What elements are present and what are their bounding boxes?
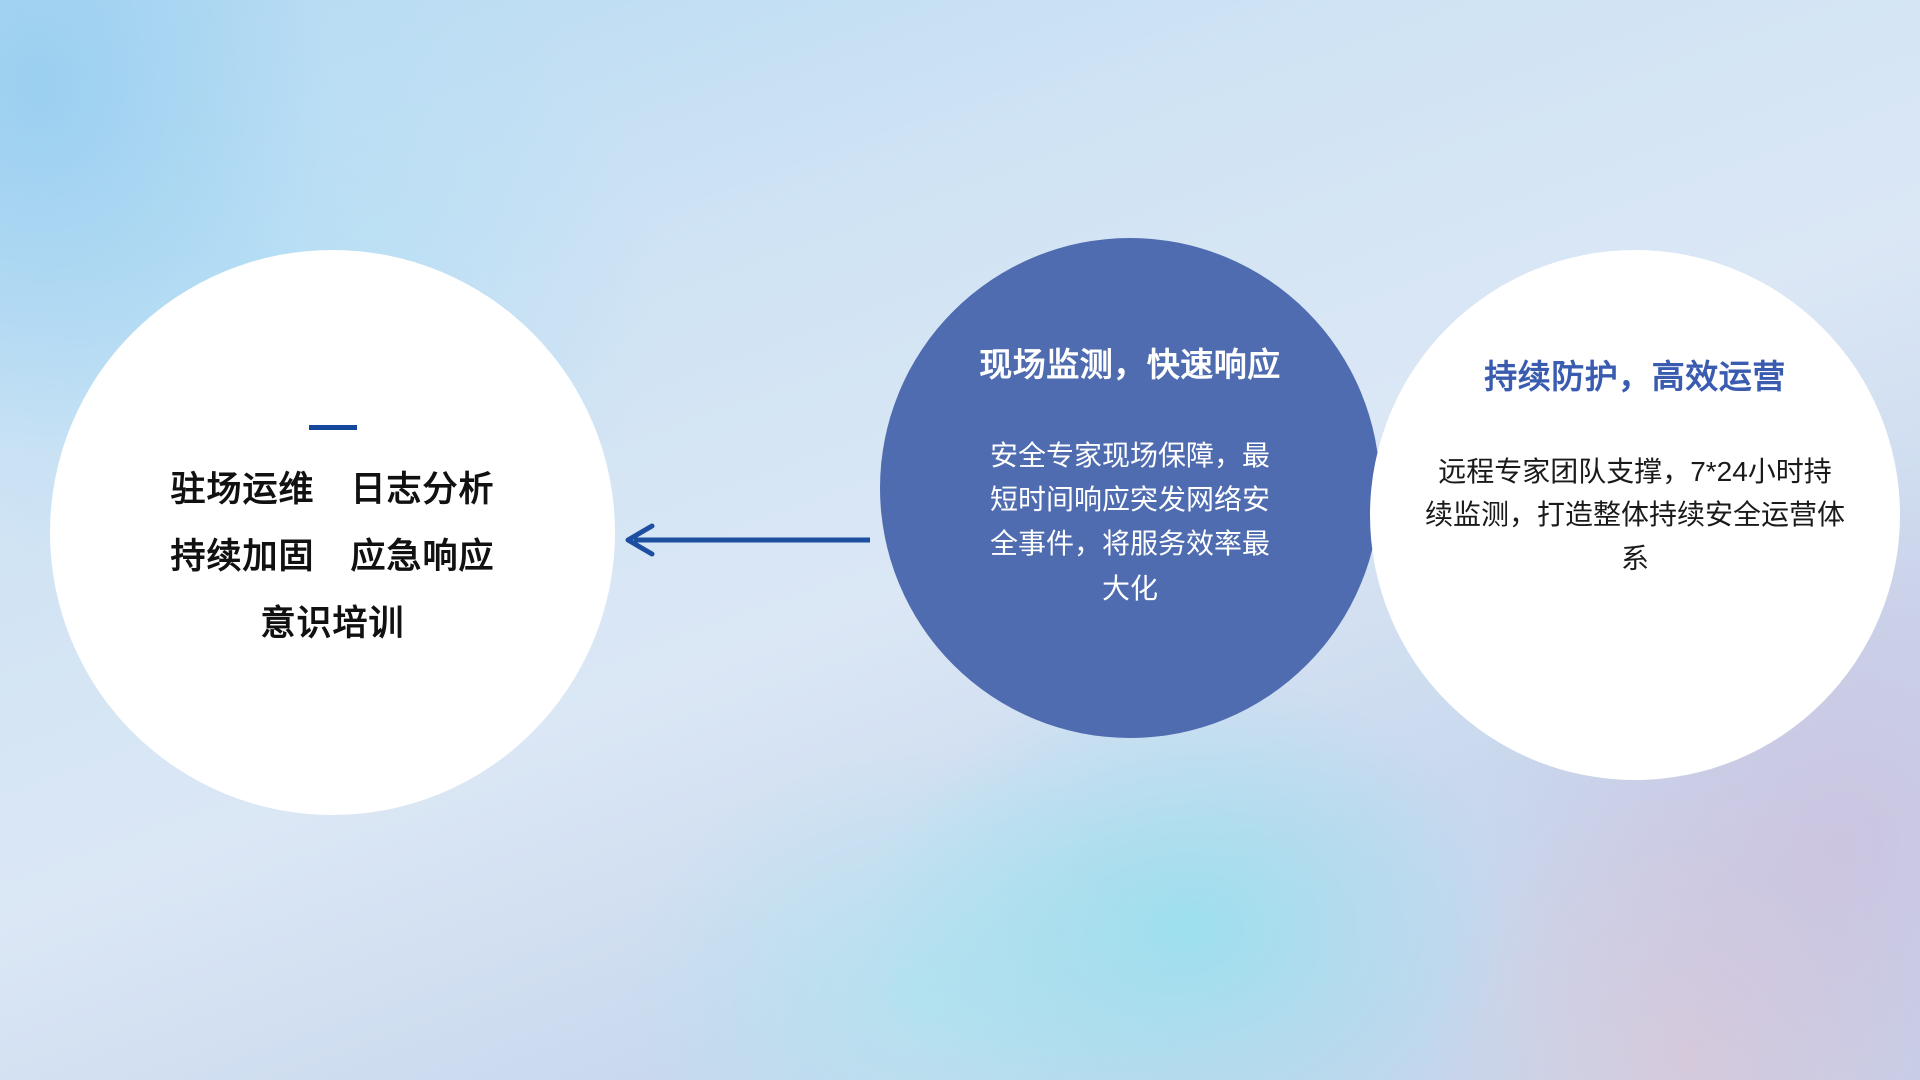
left-circle-line-1: 驻场运维 日志分析 [170,472,494,507]
slide-canvas: 驻场运维 日志分析 持续加固 应急响应 意识培训 现场监测，快速响应 安全专家现… [0,0,1920,1080]
left-circle-content: 驻场运维 日志分析 持续加固 应急响应 意识培训 [50,250,615,815]
left-circle-line-3: 意识培训 [260,606,404,641]
flow-arrow-left-icon [612,522,872,558]
center-circle-title: 现场监测，快速响应 [979,338,1281,386]
left-circle-divider [309,425,357,430]
right-circle-body: 远程专家团队支撑，7*24小时持续监测，打造整体持续安全运营体系 [1425,450,1845,580]
right-circle-title: 持续防护，高效运营 [1484,350,1786,398]
right-circle-content: 持续防护，高效运营 远程专家团队支撑，7*24小时持续监测，打造整体持续安全运营… [1370,250,1900,780]
center-circle-content: 现场监测，快速响应 安全专家现场保障，最短时间响应突发网络安全事件，将服务效率最… [880,238,1380,738]
center-circle-body: 安全专家现场保障，最短时间响应突发网络安全事件，将服务效率最大化 [985,434,1275,611]
left-circle-line-2: 持续加固 应急响应 [170,539,494,574]
